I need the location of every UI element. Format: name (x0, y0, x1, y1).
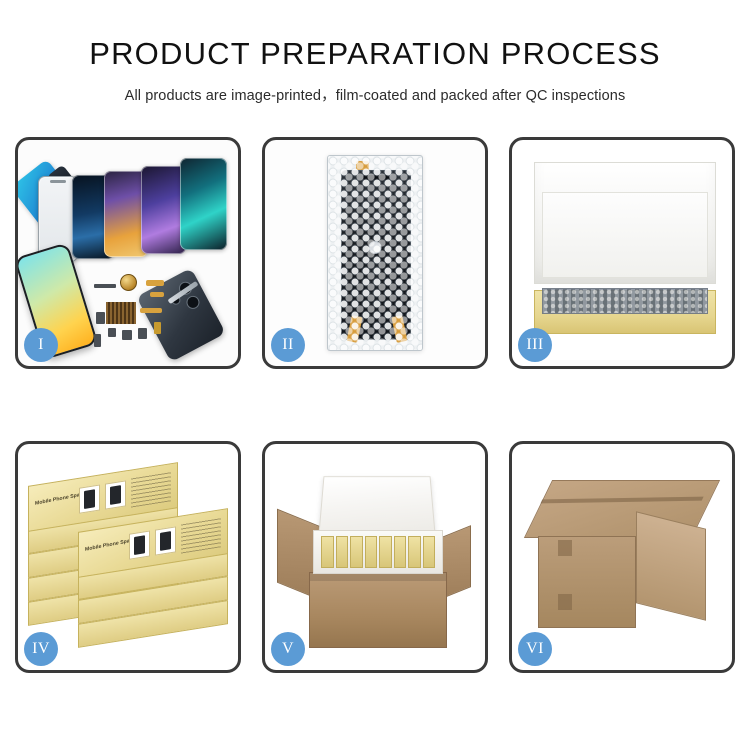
product-image (110, 485, 121, 505)
part-icon (94, 284, 116, 288)
yellow-box-item (365, 536, 378, 568)
panel-step-2: II (262, 137, 488, 369)
spec-text-lines (131, 471, 171, 507)
product-window (155, 526, 176, 555)
screw-icon (154, 322, 161, 334)
yellow-box-item (336, 536, 349, 568)
bubble-bag (327, 155, 423, 351)
part-icon (108, 328, 116, 337)
process-steps-grid: I (15, 137, 735, 677)
foam-sheet-icon (542, 192, 708, 278)
product-preparation-infographic: PRODUCT PREPARATION PROCESS All products… (0, 0, 750, 750)
yellow-box-item (350, 536, 363, 568)
speaker-module-icon (120, 274, 137, 291)
foam-lid-icon (318, 476, 436, 536)
chip-array-icon (106, 302, 136, 324)
yellow-box-item (423, 536, 436, 568)
page-title: PRODUCT PREPARATION PROCESS (0, 36, 750, 72)
step-badge-3: III (518, 328, 552, 362)
part-icon (122, 330, 132, 340)
part-icon (138, 328, 147, 339)
step-badge-6: VI (518, 632, 552, 666)
yellow-box-item (379, 536, 392, 568)
panel-step-1: I (15, 137, 241, 369)
product-window (105, 480, 126, 509)
flex-cable-icon (150, 292, 164, 297)
carton-tape-tab-icon (558, 594, 572, 610)
product-image (84, 489, 95, 509)
teal-phone-screen-icon (180, 158, 227, 250)
bubble-texture (328, 156, 422, 350)
part-icon (96, 312, 105, 324)
box-stack: Mobile Phone Spare Parts Mobile Phone Sp… (26, 462, 234, 658)
panel-step-5: V (262, 441, 488, 673)
step-badge-4: IV (24, 632, 58, 666)
panel-step-6: VI (509, 441, 735, 673)
step-badge-2: II (271, 328, 305, 362)
carton-tape-tab-icon (558, 540, 572, 556)
panel-step-3: III (509, 137, 735, 369)
spare-parts-cluster (94, 272, 202, 350)
step-badge-1: I (24, 328, 58, 362)
page-subtitle: All products are image-printed，film-coat… (0, 84, 750, 105)
header: PRODUCT PREPARATION PROCESS All products… (0, 0, 750, 105)
flex-cable-icon (140, 308, 162, 313)
product-image (160, 531, 171, 551)
product-window (129, 530, 150, 559)
carton-front-face-icon (538, 536, 636, 628)
carton-side-face-icon (636, 511, 706, 620)
panel-step-4: Mobile Phone Spare Parts Mobile Phone Sp… (15, 441, 241, 673)
flex-cable-icon (146, 280, 164, 286)
tweezers-icon (168, 281, 199, 304)
yellow-boxes-row (321, 536, 435, 568)
product-window (79, 484, 100, 513)
bag-body (327, 155, 423, 351)
spec-text-lines (181, 517, 221, 553)
bubble-wrapped-contents-icon (542, 288, 708, 314)
yellow-box-item (321, 536, 334, 568)
part-icon (94, 334, 101, 347)
product-image (134, 535, 145, 555)
carton-body-icon (309, 572, 447, 648)
yellow-box-item (394, 536, 407, 568)
step-badge-5: V (271, 632, 305, 666)
yellow-box-item (408, 536, 421, 568)
